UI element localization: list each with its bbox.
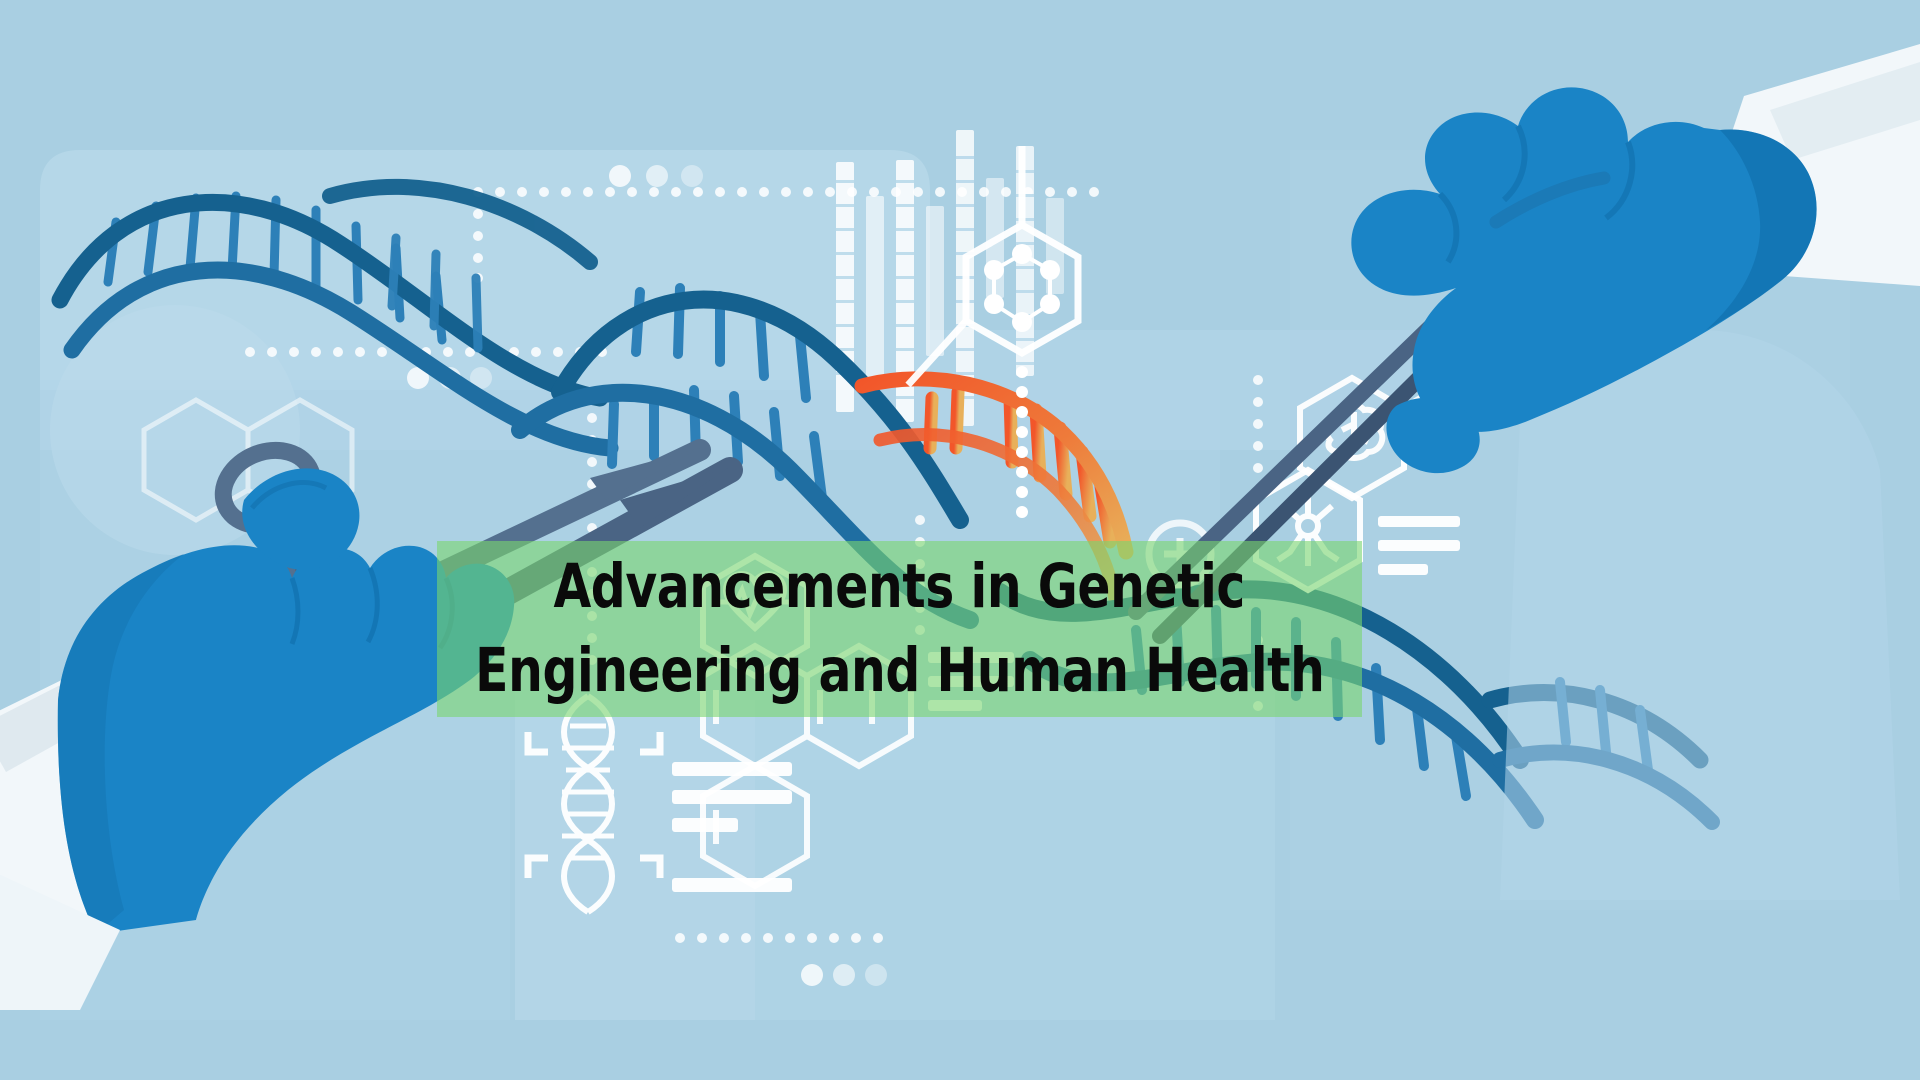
status-dot-1	[609, 165, 631, 187]
status-dot-2	[646, 165, 668, 187]
bottom-dot-1	[801, 964, 823, 986]
title-line-1: Advancements in Genetic	[554, 545, 1246, 629]
bottom-dot-2	[833, 964, 855, 986]
hero-illustration-stage: Advancements in Genetic Engineering and …	[0, 0, 1920, 1080]
illustration-canvas	[0, 0, 1920, 1080]
title-line-2: Engineering and Human Health	[475, 629, 1324, 713]
bottom-dot-3	[865, 964, 887, 986]
forearm-shadow-right	[1500, 330, 1900, 900]
status-dot-3	[681, 165, 703, 187]
title-banner: Advancements in Genetic Engineering and …	[437, 541, 1362, 717]
